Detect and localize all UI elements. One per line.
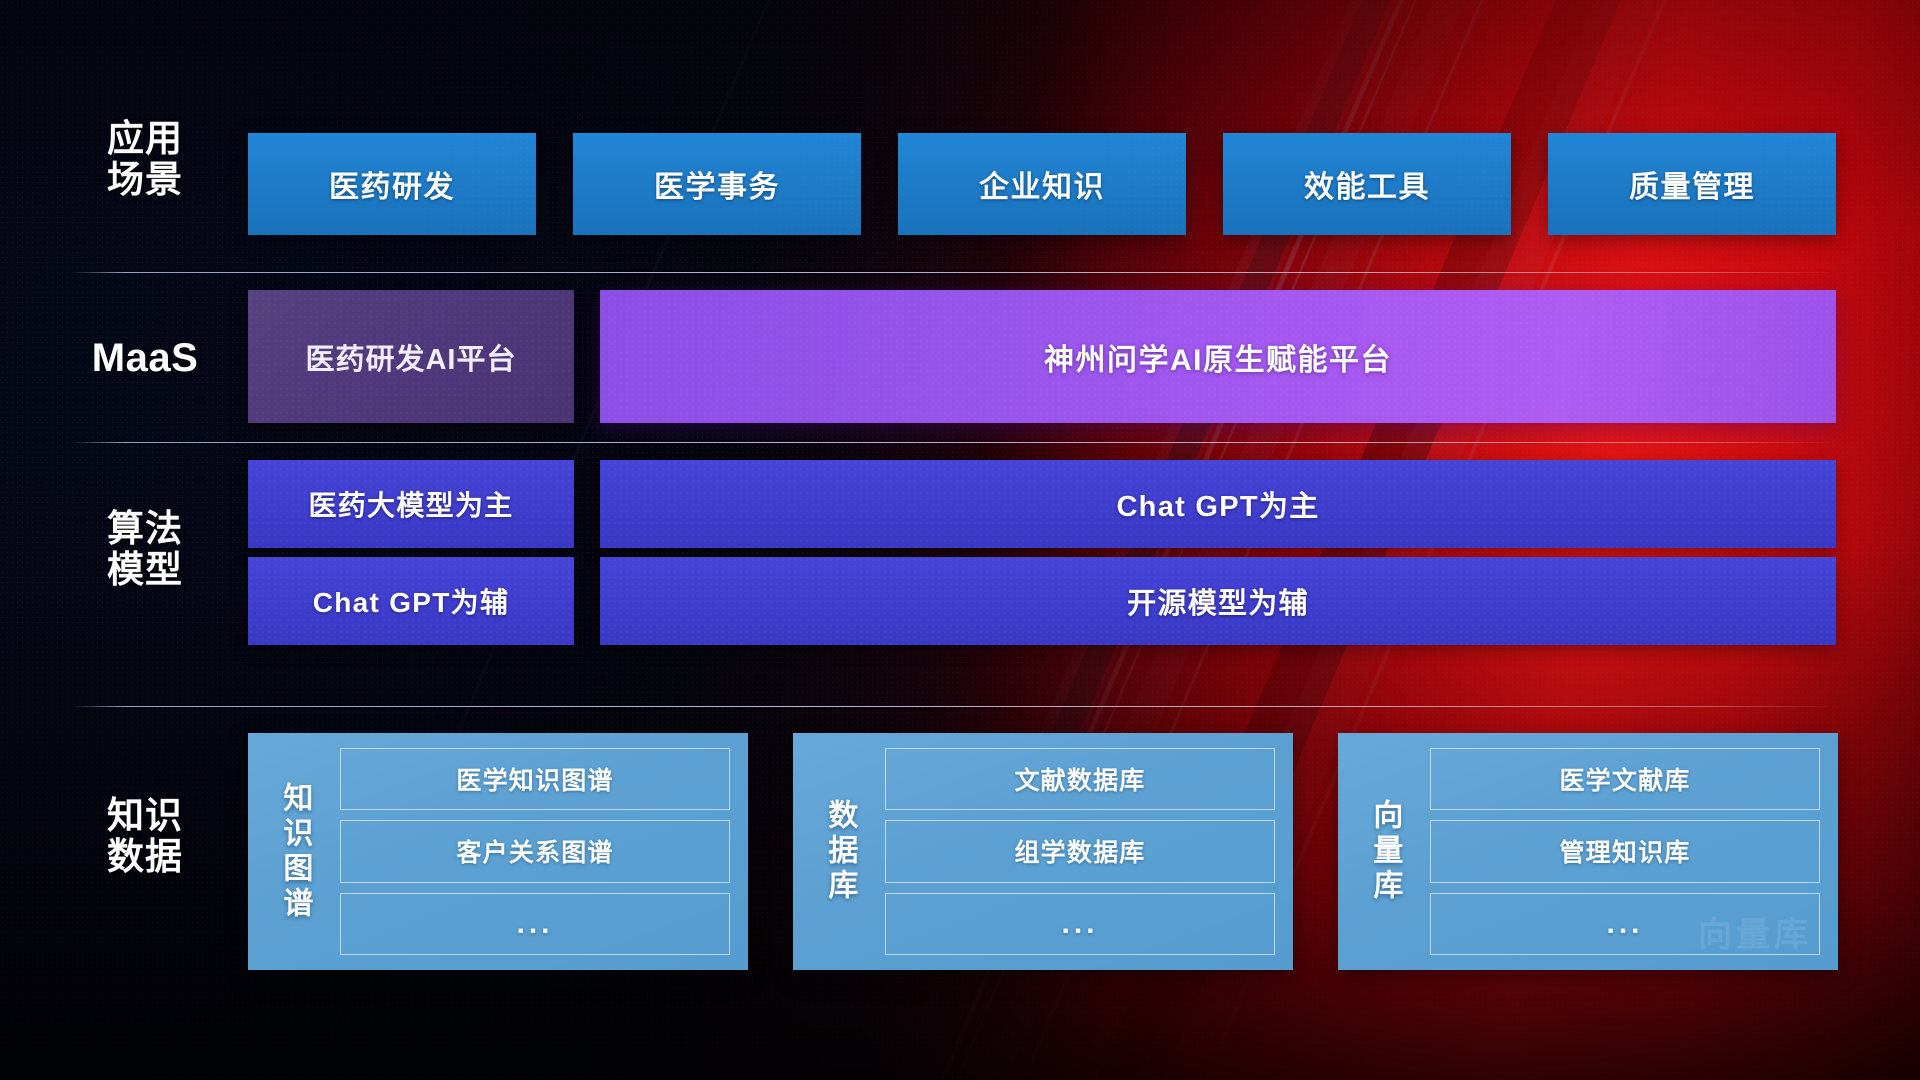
maas-left-label: 医药研发AI平台 bbox=[305, 336, 516, 378]
diagram-stage: 应用 场景 医药研发 医学事务 企业知识 效能工具 质量管理 MaaS 医药研 bbox=[0, 0, 1920, 1080]
knowledge-item[interactable]: 客户关系图谱 bbox=[340, 820, 730, 882]
algorithm-card-aux-left-label: Chat GPT为辅 bbox=[313, 581, 510, 621]
maas-platform-card-left[interactable]: 医药研发AI平台 bbox=[248, 290, 574, 423]
knowledge-card-database-items: 文献数据库 组学数据库 ... bbox=[875, 746, 1279, 957]
scenario-card-4[interactable]: 效能工具 bbox=[1223, 133, 1511, 235]
algorithm-card-aux-right[interactable]: 开源模型为辅 bbox=[600, 557, 1836, 645]
scenario-card-5-label: 质量管理 bbox=[1629, 162, 1755, 206]
scenario-row: 医药研发 医学事务 企业知识 效能工具 质量管理 bbox=[0, 133, 1920, 235]
knowledge-card-vector[interactable]: 向量库 医学文献库 管理知识库 ... 向量库 bbox=[1338, 733, 1838, 970]
knowledge-card-vector-title: 向量库 bbox=[1348, 746, 1420, 957]
scenario-card-5[interactable]: 质量管理 bbox=[1548, 133, 1836, 235]
knowledge-item-more[interactable]: ... bbox=[340, 893, 730, 955]
knowledge-card-graph[interactable]: 知识图谱 医学知识图谱 客户关系图谱 ... bbox=[248, 733, 748, 970]
divider-maas-algorithm bbox=[72, 442, 1836, 443]
knowledge-item[interactable]: 医学知识图谱 bbox=[340, 748, 730, 810]
knowledge-item[interactable]: 文献数据库 bbox=[885, 748, 1275, 810]
algorithm-card-aux-left[interactable]: Chat GPT为辅 bbox=[248, 557, 574, 645]
scenario-card-3-label: 企业知识 bbox=[979, 162, 1105, 206]
knowledge-item[interactable]: 组学数据库 bbox=[885, 820, 1275, 882]
knowledge-card-graph-title: 知识图谱 bbox=[258, 746, 330, 957]
scenario-card-1[interactable]: 医药研发 bbox=[248, 133, 536, 235]
algorithm-card-main-right[interactable]: Chat GPT为主 bbox=[600, 460, 1836, 548]
knowledge-card-graph-items: 医学知识图谱 客户关系图谱 ... bbox=[330, 746, 734, 957]
scenario-card-2[interactable]: 医学事务 bbox=[573, 133, 861, 235]
maas-platform-card-right[interactable]: 神州问学AI原生赋能平台 bbox=[600, 290, 1836, 423]
scenario-card-2-label: 医学事务 bbox=[654, 162, 780, 206]
algorithm-card-main-right-label: Chat GPT为主 bbox=[1116, 483, 1319, 525]
scenario-card-3[interactable]: 企业知识 bbox=[898, 133, 1186, 235]
knowledge-item-more[interactable]: ... bbox=[885, 893, 1275, 955]
knowledge-card-database[interactable]: 数据库 文献数据库 组学数据库 ... bbox=[793, 733, 1293, 970]
knowledge-item[interactable]: 管理知识库 bbox=[1430, 820, 1820, 882]
algorithm-card-main-left-label: 医药大模型为主 bbox=[308, 484, 513, 524]
divider-scenario-maas bbox=[72, 272, 1836, 273]
algorithm-card-aux-right-label: 开源模型为辅 bbox=[1127, 580, 1309, 622]
maas-right-label: 神州问学AI原生赋能平台 bbox=[1044, 335, 1392, 379]
algorithm-row: 医药大模型为主 Chat GPT为主 Chat GPT为辅 开源模型为辅 bbox=[0, 460, 1920, 645]
knowledge-card-database-title: 数据库 bbox=[803, 746, 875, 957]
maas-row: 医药研发AI平台 神州问学AI原生赋能平台 bbox=[0, 290, 1920, 423]
knowledge-item[interactable]: 医学文献库 bbox=[1430, 748, 1820, 810]
algorithm-card-main-left[interactable]: 医药大模型为主 bbox=[248, 460, 574, 548]
knowledge-row: 知识图谱 医学知识图谱 客户关系图谱 ... 数据库 文献数据库 组学数据库 .… bbox=[0, 733, 1920, 970]
knowledge-card-vector-items: 医学文献库 管理知识库 ... bbox=[1420, 746, 1824, 957]
divider-algorithm-knowledge bbox=[72, 706, 1836, 707]
knowledge-item-more[interactable]: ... bbox=[1430, 893, 1820, 955]
scenario-card-1-label: 医药研发 bbox=[329, 162, 455, 206]
scenario-card-4-label: 效能工具 bbox=[1304, 162, 1430, 206]
